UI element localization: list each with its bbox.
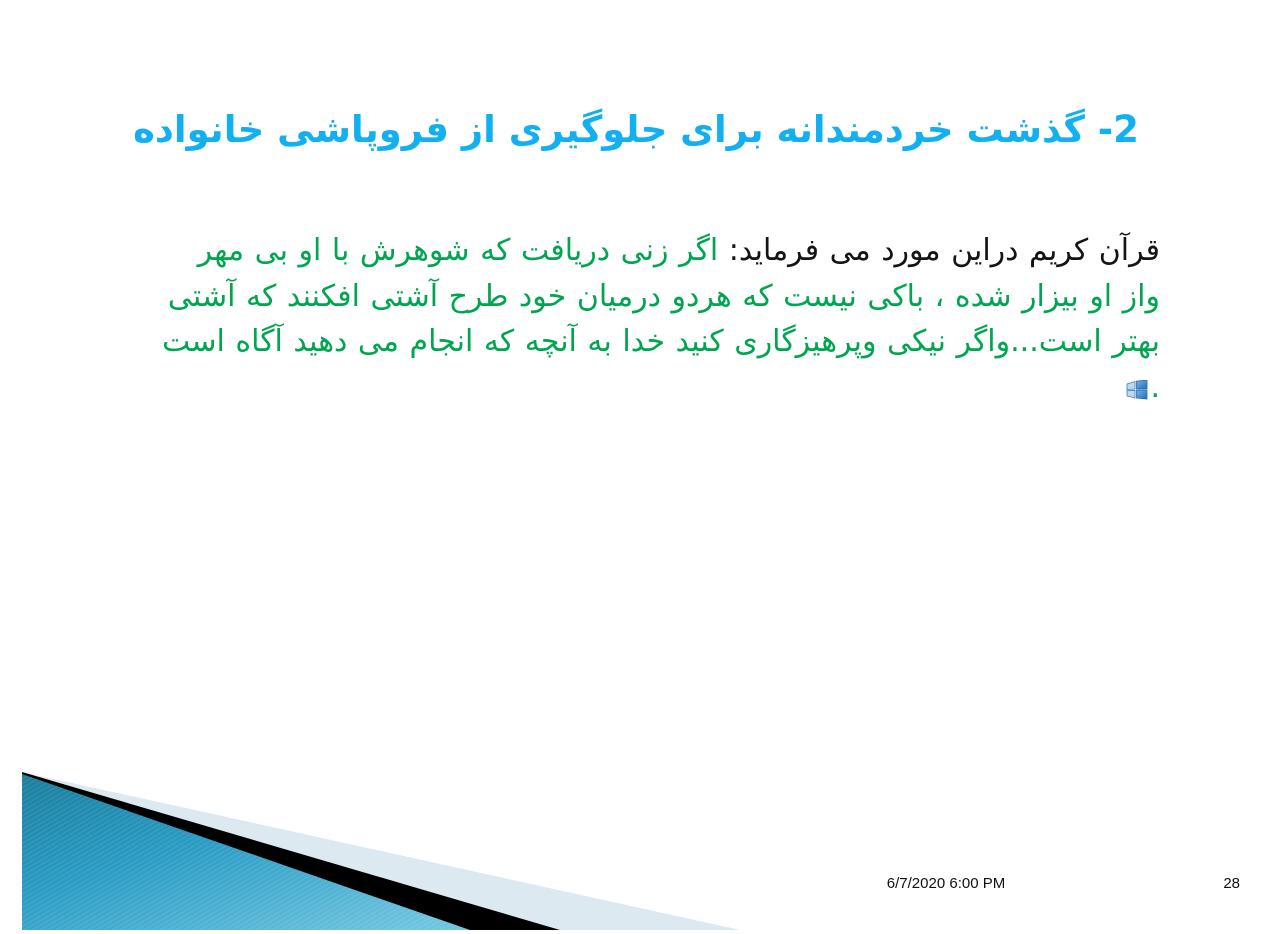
corner-triangle-decoration bbox=[0, 754, 820, 934]
pale-triangle bbox=[22, 772, 740, 930]
slide-canvas: 2- گذشت خردمندانه برای جلوگیری از فروپاش… bbox=[0, 0, 1272, 934]
slide-title[interactable]: 2- گذشت خردمندانه برای جلوگیری از فروپاش… bbox=[0, 88, 1272, 172]
slide-title-text: 2- گذشت خردمندانه برای جلوگیری از فروپاش… bbox=[133, 107, 1139, 153]
body-lead-text: قرآن کریم دراین مورد می فرماید: bbox=[729, 233, 1160, 268]
slide-number: 28 bbox=[1223, 875, 1240, 892]
slide-body[interactable]: قرآن کریم دراین مورد می فرماید: اگر زنی … bbox=[150, 228, 1160, 410]
footer-date: 6/7/2020 6:00 PM bbox=[887, 875, 1005, 892]
black-triangle bbox=[22, 772, 560, 930]
window-pane-icon bbox=[1126, 368, 1148, 388]
teal-triangle bbox=[22, 774, 470, 930]
body-paragraph: قرآن کریم دراین مورد می فرماید: اگر زنی … bbox=[150, 228, 1160, 410]
